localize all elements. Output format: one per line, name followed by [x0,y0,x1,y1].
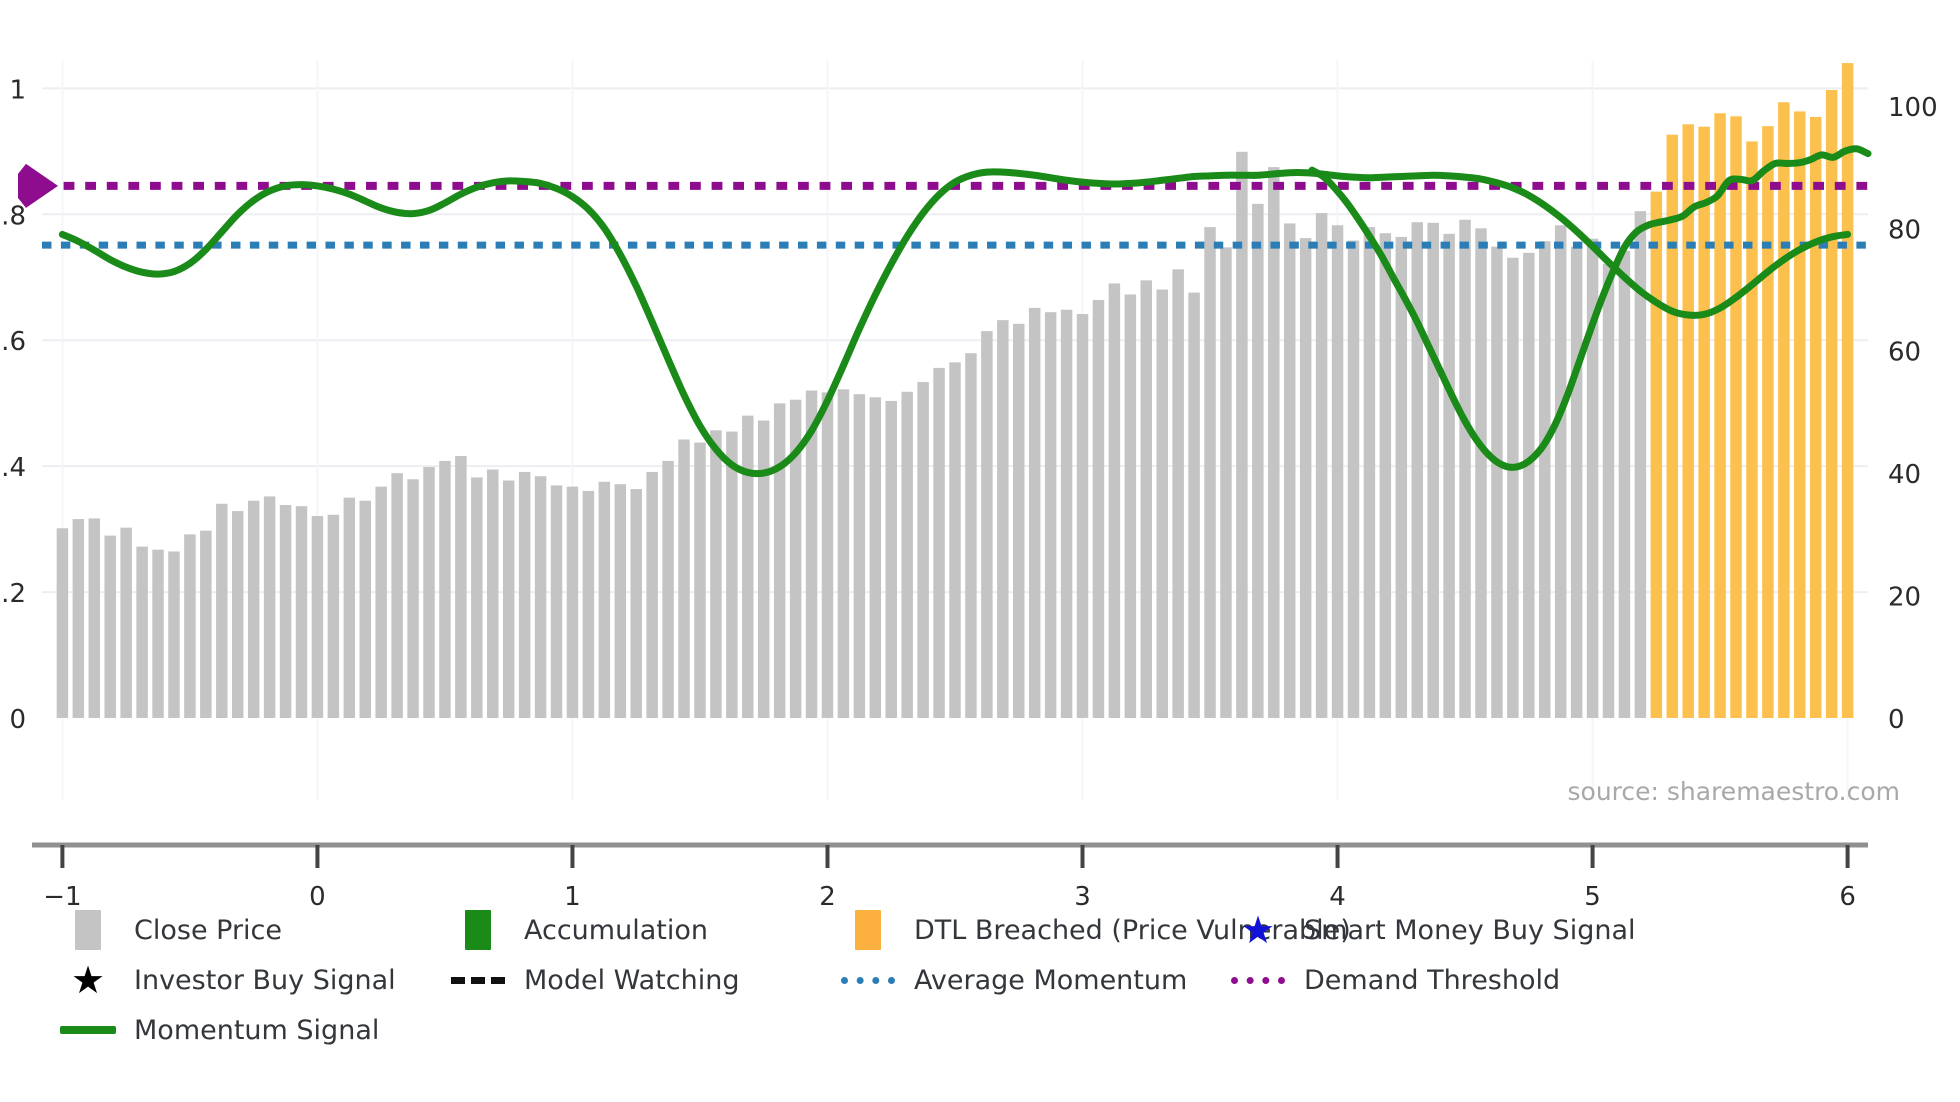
bar-close-price [535,476,546,718]
bar-close-price [1300,238,1311,718]
legend-label: Close Price [134,917,282,944]
bar-close-price [216,504,227,718]
bar-close-price [1061,310,1072,718]
legend-label: Smart Money Buy Signal [1304,917,1636,944]
bar-close-price [694,443,705,718]
bar-close-price [1412,222,1423,718]
x-tick-label: 5 [1584,882,1601,912]
bar-close-price [1125,294,1136,718]
bar-close-price [822,392,833,718]
bar-close-price [886,401,897,718]
bar-close-price [1188,293,1199,718]
y-right-tick-label: 60 [1888,338,1921,368]
bar-close-price [1491,247,1502,718]
bar-close-price [1380,233,1391,718]
x-tick-label: 6 [1839,882,1856,912]
bar-close-price [487,469,498,718]
bar-dtl-breached [1730,116,1741,718]
legend-label: Model Watching [524,967,739,994]
chart-root: 00.20.40.60.81 020406080100 −10123456 so… [0,0,1960,1102]
bar-close-price [1523,253,1534,718]
bar-close-price [280,505,291,718]
bar-close-price [1316,213,1327,718]
bar-close-price [630,489,641,718]
bar-close-price [726,432,737,718]
bar-close-price [901,392,912,718]
bar-dtl-breached [1651,192,1662,718]
bar-close-price [1045,312,1056,718]
model-watching-key [450,960,506,1000]
bar-close-price [423,467,434,718]
bar-close-price [1268,167,1279,718]
y-left-tick-label: 1 [9,75,26,105]
bar-dtl-breached [1794,111,1805,718]
legend-row: Momentum Signal [60,1010,1900,1050]
y-left-tick-label: 0.6 [0,327,26,357]
x-tick-label: 2 [819,882,836,912]
x-tick-label: 4 [1329,882,1346,912]
bar-close-price [1156,290,1167,718]
legend-label: Momentum Signal [134,1017,379,1044]
bar-close-price [662,461,673,718]
legend-row: ★Investor Buy SignalModel WatchingAverag… [60,960,1900,1000]
legend-label: Average Momentum [914,967,1187,994]
bar-close-price [455,456,466,718]
bar-dtl-breached [1762,126,1773,718]
legend-item-accumulation[interactable]: Accumulation [450,910,840,950]
bar-close-price [838,389,849,718]
bar-close-price [232,511,243,718]
legend-item-average-momentum[interactable]: Average Momentum [840,960,1230,1000]
bar-close-price [152,550,163,718]
bar-close-price [965,353,976,718]
bar-close-price [981,331,992,718]
momentum-signal-solid-line-icon [60,1026,116,1034]
bar-close-price [104,536,115,718]
bar-close-price [774,403,785,718]
bar-close-price [1571,247,1582,718]
investor-buy-signal-star-icon: ★ [71,961,105,999]
bar-close-price [264,496,275,718]
accumulation-key [450,910,506,950]
bar-close-price [1539,241,1550,718]
legend-item-model-watching[interactable]: Model Watching [450,960,840,1000]
bar-close-price [1603,264,1614,718]
y-right-tick-label: 0 [1888,705,1905,735]
bar-close-price [917,382,928,718]
bar-close-price [870,397,881,718]
bar-close-price [1172,269,1183,718]
bar-dtl-breached [1714,113,1725,718]
bar-close-price [854,394,865,718]
bar-close-price [312,516,323,718]
x-tick-label: 3 [1074,882,1091,912]
price-bars [57,63,1854,718]
legend-item-momentum-signal[interactable]: Momentum Signal [60,1010,450,1050]
x-tick-label: −1 [43,882,81,912]
bar-close-price [1459,220,1470,718]
bar-close-price [73,519,84,718]
bar-close-price [57,528,68,718]
legend-item-investor-buy-signal[interactable]: ★Investor Buy Signal [60,960,450,1000]
dtl-breached-key [840,910,896,950]
axis-spines [32,845,1868,868]
bar-close-price [89,518,100,718]
bar-close-price [949,362,960,718]
bar-close-price [1204,227,1215,718]
y-left-tick-label: 0.8 [0,201,26,231]
momentum-signal-key [60,1010,116,1050]
threshold-lines [18,164,1868,245]
bar-close-price [439,461,450,718]
bar-close-price [1077,314,1088,718]
bar-close-price [1507,258,1518,718]
bar-close-price [758,421,769,718]
bar-close-price [1348,241,1359,718]
y-right-tick-label: 80 [1888,215,1921,245]
bar-close-price [1427,223,1438,718]
chart-legend: Close PriceAccumulationDTL Breached (Pri… [0,910,1960,1090]
bar-close-price [1236,152,1247,718]
smart-money-buy-signal-key: ★ [1230,910,1286,950]
legend-item-demand-threshold[interactable]: Demand Threshold [1230,960,1620,1000]
bar-close-price [646,472,657,718]
x-axis-tick-labels: −10123456 [43,882,1856,912]
bar-close-price [583,491,594,718]
legend-label: Demand Threshold [1304,967,1560,994]
average-momentum-dotted-line-icon [841,977,895,984]
bar-close-price [599,482,610,718]
bar-dtl-breached [1698,127,1709,718]
close-price-swatch-icon [75,910,101,950]
bar-close-price [1252,204,1263,718]
bar-close-price [1141,280,1152,718]
bar-close-price [678,439,689,718]
bar-close-price [248,501,259,718]
bar-close-price [1332,225,1343,718]
bar-close-price [200,531,211,718]
accumulation-swatch-icon [465,910,491,950]
bar-close-price [1109,283,1120,718]
y-right-tick-label: 20 [1888,583,1921,613]
average-momentum-key [840,960,896,1000]
bar-close-price [1475,228,1486,718]
legend-label: Investor Buy Signal [134,967,396,994]
bar-close-price [1013,324,1024,718]
x-tick-label: 1 [564,882,581,912]
bar-close-price [120,528,131,718]
bar-close-price [1396,237,1407,718]
close-price-key [60,910,116,950]
bar-dtl-breached [1778,102,1789,718]
bar-close-price [710,430,721,718]
bar-close-price [136,547,147,718]
bar-close-price [344,498,355,718]
legend-item-dtl-breached[interactable]: DTL Breached (Price Vulnerable) [840,910,1230,950]
right-axis-tick-labels: 020406080100 [1888,93,1938,735]
y-right-tick-label: 40 [1888,460,1921,490]
bar-close-price [1093,300,1104,718]
bar-close-price [296,506,307,718]
bar-dtl-breached [1810,117,1821,718]
bar-close-price [551,485,562,718]
model-watching-dashed-line-icon [451,977,505,984]
bar-close-price [391,473,402,718]
bar-close-price [375,487,386,718]
bar-close-price [1555,225,1566,718]
bar-close-price [328,515,339,718]
bar-close-price [933,368,944,718]
bar-close-price [360,501,371,718]
bar-close-price [1619,251,1630,718]
demand-threshold-key [1230,960,1286,1000]
y-left-tick-label: 0 [9,705,26,735]
bar-close-price [1284,223,1295,718]
legend-label: Accumulation [524,917,708,944]
bar-close-price [184,534,195,718]
source-note: source: sharemaestro.com [1568,777,1901,806]
bar-close-price [567,487,578,718]
bar-close-price [1364,227,1375,718]
bar-close-price [742,416,753,718]
demand-threshold-dotted-line-icon [1231,977,1285,984]
bar-dtl-breached [1746,141,1757,718]
bar-close-price [1029,308,1040,718]
y-left-tick-label: 0.2 [0,579,26,609]
bar-close-price [168,552,179,718]
bar-close-price [407,479,418,718]
investor-buy-signal-key: ★ [60,960,116,1000]
bar-close-price [997,320,1008,718]
y-left-tick-label: 0.4 [0,453,26,483]
bar-dtl-breached [1842,63,1853,718]
bar-close-price [503,481,514,718]
legend-row: Close PriceAccumulationDTL Breached (Pri… [60,910,1900,950]
bar-close-price [519,472,530,718]
bar-close-price [615,484,626,718]
legend-item-smart-money-buy-signal[interactable]: ★Smart Money Buy Signal [1230,910,1620,950]
y-right-tick-label: 100 [1888,93,1938,123]
x-tick-label: 0 [309,882,326,912]
bar-close-price [471,477,482,718]
legend-item-close-price[interactable]: Close Price [60,910,450,950]
dtl-breached-swatch-icon [855,910,881,950]
bar-close-price [1220,247,1231,718]
bar-close-price [1443,234,1454,718]
smart-money-buy-signal-star-icon: ★ [1241,911,1275,949]
